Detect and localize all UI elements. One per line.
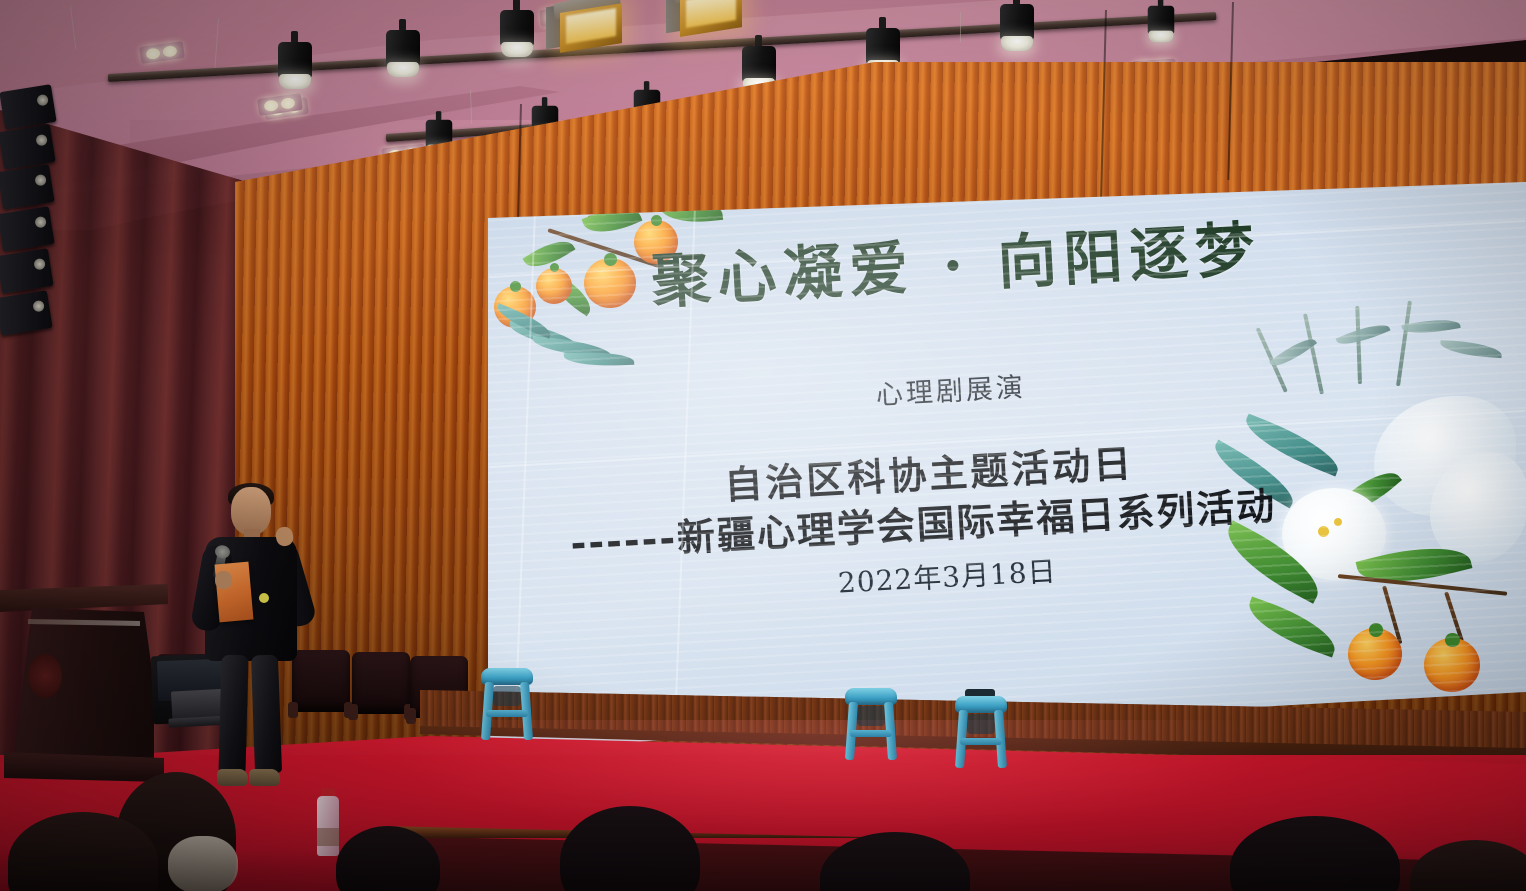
stage-par-light-icon	[278, 40, 312, 96]
stage-par-light-icon	[500, 8, 534, 64]
slide-date: 2022年3月18日	[837, 550, 1058, 602]
stage-par-light-icon	[1000, 2, 1034, 58]
speaker-module	[0, 84, 57, 130]
speaker-module	[0, 290, 53, 336]
speaker-module	[0, 248, 54, 294]
fresnel-barn-door-light-icon	[672, 0, 750, 40]
speaker-module	[0, 206, 55, 252]
stage-par-light-icon	[1148, 4, 1175, 48]
fresnel-barn-door-light-icon	[552, 4, 630, 56]
auditorium-scene: 聚心凝爱 · 向阳逐梦 心理剧展演 自治区科协主题活动日 ------新疆心理学…	[0, 0, 1526, 891]
jacket-badge	[259, 593, 269, 603]
presenter-left-hand	[215, 571, 232, 589]
line-array-speaker-stack	[0, 88, 58, 378]
truss-support-wire	[960, 12, 961, 42]
presenter-shoe	[217, 769, 248, 786]
led-presentation-screen: 聚心凝爱 · 向阳逐梦 心理剧展演 自治区科协主题活动日 ------新疆心理学…	[488, 182, 1526, 742]
speaker-module	[0, 124, 56, 170]
presenter-head	[231, 487, 271, 535]
slide-subtitle: 心理剧展演	[875, 365, 1027, 412]
presenter-legs	[219, 655, 281, 773]
speaker-module	[0, 164, 55, 210]
water-bottle	[315, 788, 341, 856]
audience-fur-collar	[168, 836, 238, 891]
podium-emblem	[28, 654, 62, 698]
theater-seat	[352, 652, 410, 714]
slide-content: 聚心凝爱 · 向阳逐梦 心理剧展演 自治区科协主题活动日 ------新疆心理学…	[488, 182, 1526, 742]
wooden-podium	[0, 584, 168, 784]
presenter-person	[197, 487, 305, 800]
presenter-shoe	[249, 769, 280, 786]
stage-par-light-icon	[386, 28, 420, 84]
blue-plastic-stool	[481, 668, 533, 740]
blue-plastic-stool	[955, 696, 1007, 768]
blue-plastic-stool	[845, 688, 897, 760]
